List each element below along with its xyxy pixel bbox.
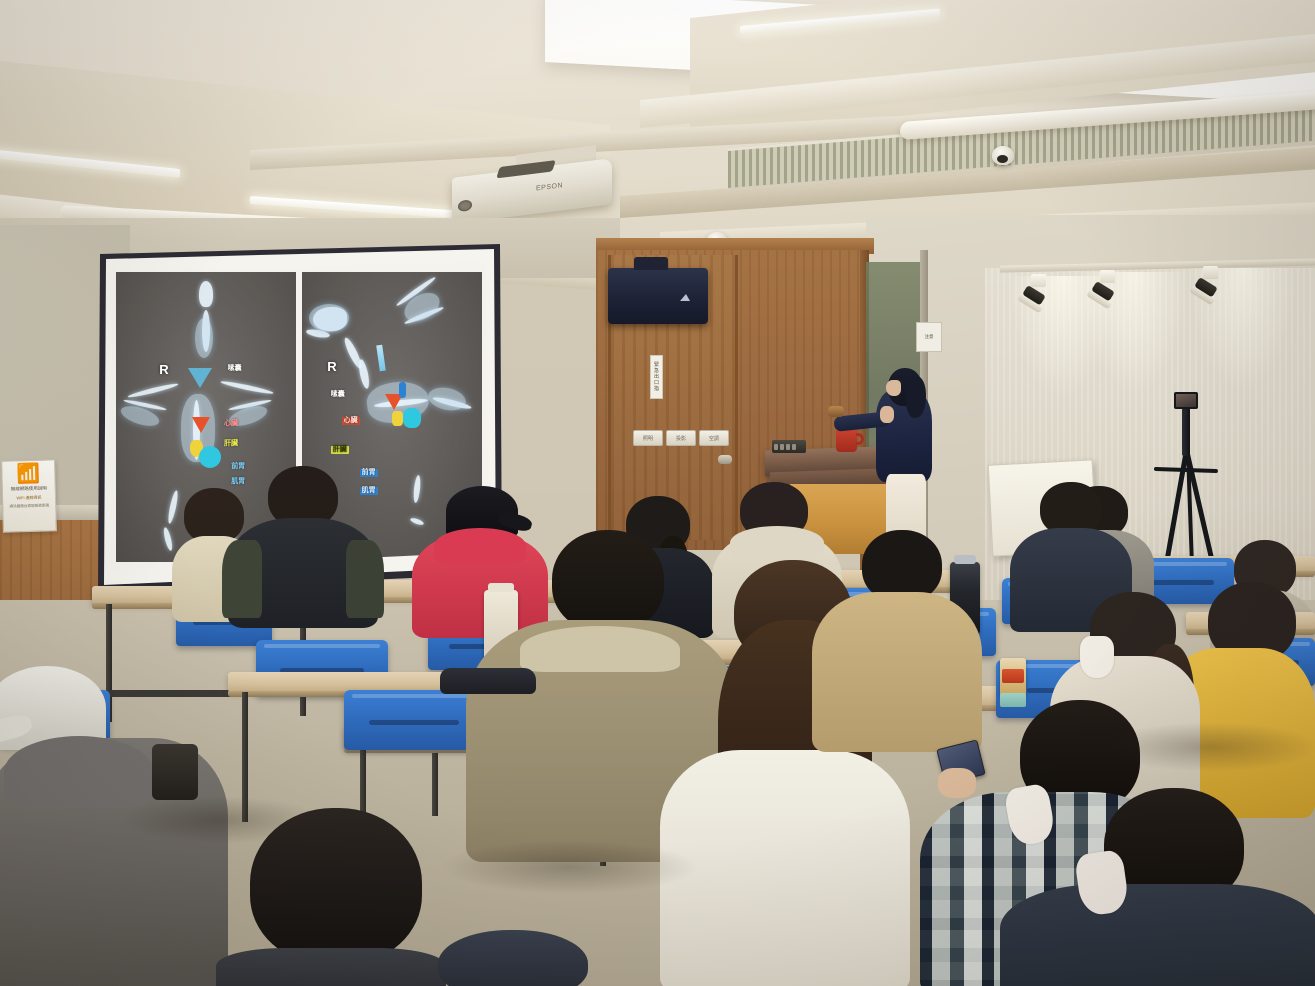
- lectern-control-panel[interactable]: [772, 440, 806, 453]
- audience-person-14: [216, 808, 446, 986]
- microphone: [828, 406, 844, 417]
- hood: [4, 736, 154, 808]
- bag-on-floor: [152, 744, 198, 800]
- switch-plate-projector[interactable]: 投影: [666, 430, 696, 446]
- desk-mid-left: [228, 672, 452, 692]
- control-button-icon[interactable]: [774, 444, 778, 450]
- coffee-mug: [836, 428, 857, 452]
- sign-char-4: 口: [654, 381, 659, 386]
- cap-brim: [0, 712, 34, 746]
- lecture-hall-photo: EPSON 緊 急 出: [0, 0, 1315, 986]
- track-light-2[interactable]: [1100, 270, 1115, 283]
- collar: [520, 626, 680, 672]
- control-button-icon[interactable]: [786, 444, 790, 450]
- vertical-wall-sign: 緊 急 出 口 指: [650, 355, 663, 399]
- wifi-poster-line3: 請洽服務台索取帳號密碼: [9, 503, 49, 509]
- wifi-notice-poster: 📶 無線網路使用說明 WiFi 連線資訊 請洽服務台索取帳號密碼: [1, 459, 57, 532]
- control-button-icon[interactable]: [792, 444, 796, 450]
- jacket-on-desk: [440, 668, 536, 694]
- sign-char-1: 緊: [654, 363, 659, 368]
- label-crop-right: 嗉囊: [331, 391, 345, 399]
- radiograph-side-marker-right: R: [327, 359, 336, 374]
- presenter-hand: [880, 406, 894, 423]
- person-head: [552, 530, 664, 632]
- person-shoulder-right: [346, 540, 384, 618]
- tripod-mounted-smartphone[interactable]: [1174, 392, 1198, 409]
- label-liver-right: 肝臟: [331, 446, 349, 454]
- person-torso: [660, 750, 910, 986]
- door-handle[interactable]: [718, 455, 732, 464]
- audience-person-2: [228, 466, 378, 626]
- audience-person-12: [1000, 788, 1315, 986]
- face-mask: [1080, 636, 1114, 678]
- radiograph-side-marker-left: R: [159, 362, 168, 377]
- dome-camera-right: [992, 146, 1014, 165]
- switch-label: 照明: [643, 435, 653, 442]
- person-shoulder-left: [222, 540, 262, 618]
- presenter-hair-side: [906, 376, 926, 418]
- person-head: [250, 808, 422, 964]
- sign-char-3: 出: [654, 375, 659, 380]
- person-torso: [216, 948, 446, 986]
- person-torso: [1000, 884, 1315, 986]
- hand-holding-phone: [938, 768, 976, 798]
- label-crop-left: 嗉囊: [228, 365, 242, 373]
- organ-heart-marker: [192, 417, 210, 433]
- desk-leg: [242, 692, 248, 822]
- speaker-logo-icon: [680, 294, 690, 301]
- label-heart-left: 心臟: [224, 420, 238, 428]
- switch-plate-lighting[interactable]: 照明: [633, 430, 663, 446]
- wifi-poster-line2: WiFi 連線資訊: [16, 495, 41, 502]
- presenter-face: [886, 380, 901, 396]
- audience-person-13: [0, 666, 228, 986]
- organ-gizzard-marker: [199, 446, 221, 468]
- wifi-poster-line1: 無線網路使用說明: [11, 486, 47, 493]
- organ-proventriculus-marker: [399, 382, 406, 398]
- audience-person-18: [418, 930, 608, 986]
- switch-plate-hvac[interactable]: 空調: [699, 430, 729, 446]
- label-liver-left: 肝臟: [224, 440, 238, 448]
- switch-label: 空調: [709, 435, 719, 442]
- control-button-icon[interactable]: [780, 444, 784, 450]
- switch-label: 投影: [676, 435, 686, 442]
- door-notice-text: 注意: [925, 334, 934, 340]
- wall-speaker: [608, 268, 708, 324]
- organ-gizzard-marker: [403, 408, 421, 428]
- speaker-bracket: [634, 257, 668, 270]
- sign-char-5: 指: [654, 387, 659, 392]
- tripod-column: [1182, 408, 1190, 456]
- organ-liver-marker: [392, 411, 403, 426]
- track-light-1[interactable]: [1031, 274, 1046, 287]
- projector-lens-icon: [458, 199, 472, 212]
- door-notice-sign: 注意: [916, 322, 942, 352]
- hood: [730, 526, 824, 560]
- organ-crop-marker: [376, 344, 386, 371]
- can-label: [1002, 669, 1024, 683]
- label-heart-right: 心臟: [342, 417, 360, 425]
- projector-brand-label: EPSON: [536, 182, 563, 192]
- chair-mid-1[interactable]: [344, 690, 484, 750]
- person-head: [438, 930, 588, 986]
- sign-char-2: 急: [654, 369, 659, 374]
- track-light-3[interactable]: [1203, 266, 1218, 279]
- organ-crop-marker: [188, 368, 212, 388]
- beverage-can: [1000, 658, 1026, 696]
- wifi-icon: 📶: [16, 467, 40, 484]
